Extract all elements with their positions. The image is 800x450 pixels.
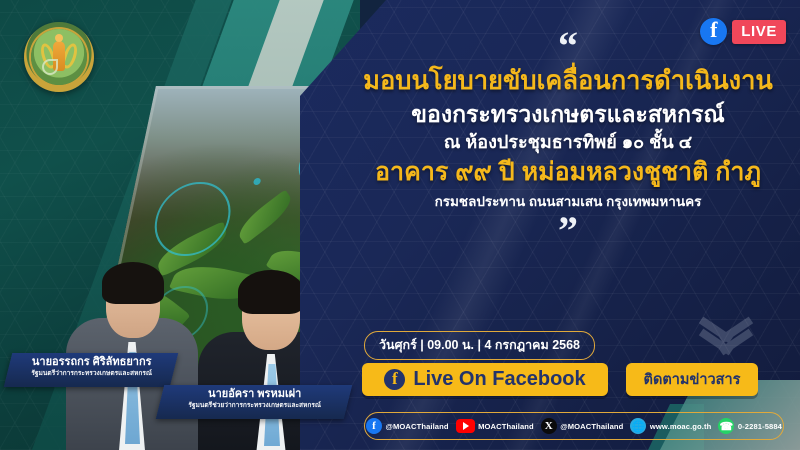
social-handle: @MOACThailand bbox=[385, 422, 448, 431]
chevron-down-icon bbox=[698, 322, 754, 356]
social-handle: @MOACThailand bbox=[560, 422, 623, 431]
headline-line-1: มอบนโยบายขับเคลื่อนการดำเนินงาน bbox=[348, 65, 788, 99]
social-handle: 0-2281-5884 bbox=[738, 422, 782, 431]
logo-inner-disc bbox=[31, 29, 87, 85]
headline-line-2: ของกระทรวงเกษตรและสหกรณ์ bbox=[348, 99, 788, 130]
venue-building-line: อาคาร ๙๙ ปี หม่อมหลวงชูชาติ กำภู bbox=[348, 156, 788, 189]
speaker-nameplate-2: นายอัครา พรหมเผ่า รัฐมนตรีช่วยว่าการกระท… bbox=[156, 385, 352, 419]
globe-icon: 🌐 bbox=[630, 418, 646, 434]
social-item-website[interactable]: 🌐 www.moac.go.th bbox=[630, 418, 711, 434]
hair bbox=[102, 262, 164, 304]
social-links-bar: f @MOACThailand MOACThailand X @MOACThai… bbox=[364, 412, 784, 440]
poster-canvas: LIVE “ มอบนโยบายขับเคลื่อนการดำเนินงาน ข… bbox=[0, 0, 800, 450]
event-datetime-pill: วันศุกร์ | 09.00 น. | 4 กรกฎาคม 2568 bbox=[364, 331, 595, 360]
live-on-facebook-button[interactable]: Live On Facebook bbox=[362, 363, 608, 396]
speaker-role: รัฐมนตรีว่าการกระทรวงเกษตรและสหกรณ์ bbox=[15, 370, 169, 379]
quote-open-mark: “ bbox=[348, 34, 788, 58]
headline-block: “ มอบนโยบายขับเคลื่อนการดำเนินงาน ของกระ… bbox=[348, 34, 788, 243]
youtube-icon bbox=[456, 419, 475, 433]
logo-naga bbox=[42, 59, 58, 75]
social-handle: www.moac.go.th bbox=[650, 422, 711, 431]
live-on-facebook-label: Live On Facebook bbox=[413, 368, 585, 391]
follow-news-label: ติดตามข่าวสาร bbox=[644, 368, 741, 391]
social-item-phone[interactable]: ☎ 0-2281-5884 bbox=[718, 418, 782, 434]
speaker-nameplate-1: นายอรรถกร ศิริลัทธยากร รัฐมนตรีว่าการกระ… bbox=[4, 353, 178, 387]
moac-seal-logo bbox=[24, 22, 94, 92]
speaker-name: นายอัครา พรหมเผ่า bbox=[167, 388, 343, 402]
x-twitter-icon: X bbox=[541, 418, 557, 434]
cta-button-row: Live On Facebook ติดตามข่าวสาร bbox=[362, 363, 758, 396]
speaker-role: รัฐมนตรีช่วยว่าการกระทรวงเกษตรและสหกรณ์ bbox=[167, 402, 343, 411]
social-item-youtube[interactable]: MOACThailand bbox=[456, 419, 534, 433]
facebook-icon: f bbox=[366, 418, 382, 434]
social-item-x[interactable]: X @MOACThailand bbox=[541, 418, 624, 434]
facebook-icon bbox=[384, 369, 405, 390]
line-phone-icon: ☎ bbox=[718, 418, 734, 434]
social-item-facebook[interactable]: f @MOACThailand bbox=[366, 418, 449, 434]
venue-room-line: ณ ห้องประชุมธารทิพย์ ๑๐ ชั้น ๔ bbox=[348, 129, 788, 156]
hair bbox=[238, 270, 304, 314]
speaker-name: นายอรรถกร ศิริลัทธยากร bbox=[15, 356, 169, 370]
quote-close-mark: ” bbox=[348, 219, 788, 243]
social-handle: MOACThailand bbox=[478, 422, 534, 431]
follow-news-button[interactable]: ติดตามข่าวสาร bbox=[626, 363, 758, 396]
